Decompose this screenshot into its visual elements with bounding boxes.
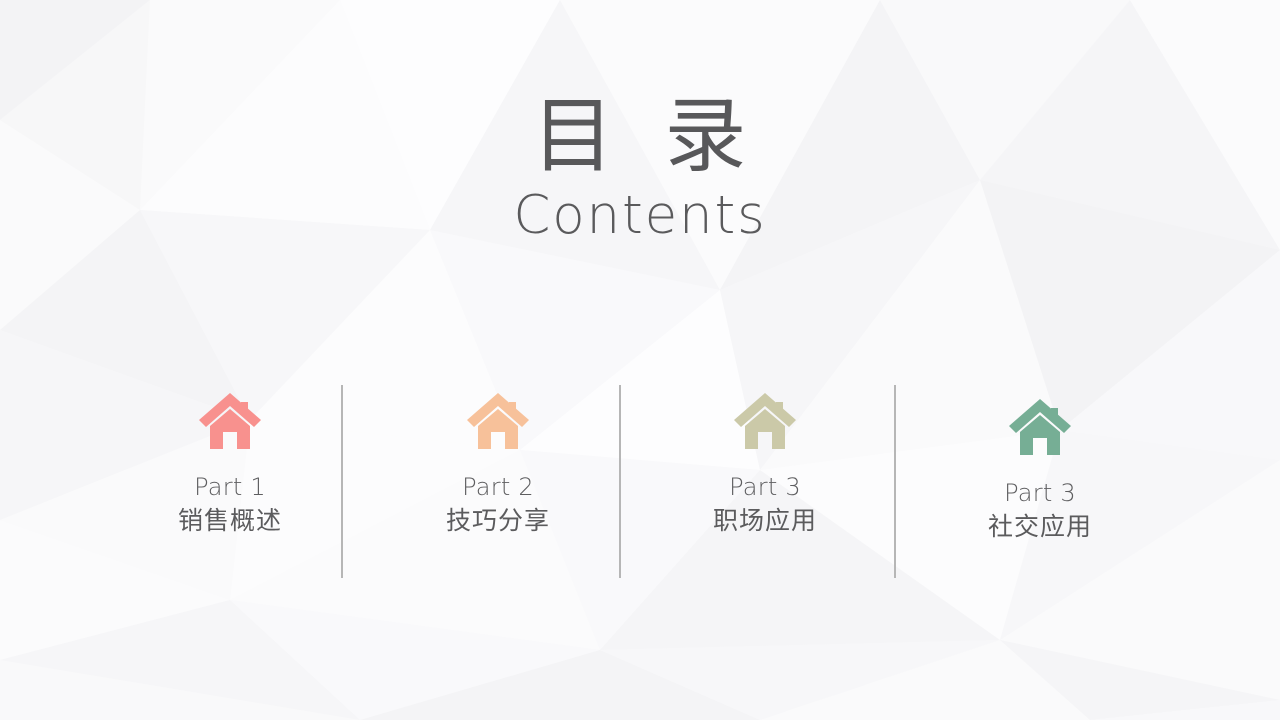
contents-item-label: Part 3 bbox=[645, 472, 885, 503]
house-icon-wrap bbox=[645, 380, 885, 452]
contents-item-part-1[interactable]: Part 1 销售概述 bbox=[110, 380, 350, 537]
contents-item-title: 职场应用 bbox=[645, 505, 885, 538]
contents-item-part-3[interactable]: Part 3 职场应用 bbox=[645, 380, 885, 537]
contents-item-label: Part 2 bbox=[378, 472, 618, 503]
house-icon bbox=[466, 390, 530, 452]
contents-item-title: 销售概述 bbox=[110, 505, 350, 538]
house-icon-wrap bbox=[378, 380, 618, 452]
contents-item-part-2[interactable]: Part 2 技巧分享 bbox=[378, 380, 618, 537]
contents-item-label: Part 1 bbox=[110, 472, 350, 503]
slide-title-block: 目 录 Contents bbox=[0, 96, 1280, 244]
house-icon-wrap bbox=[110, 380, 350, 452]
house-icon bbox=[198, 390, 262, 452]
contents-item-title: 社交应用 bbox=[920, 511, 1160, 544]
house-icon-wrap bbox=[920, 386, 1160, 458]
contents-item-label: Part 3 bbox=[920, 478, 1160, 509]
contents-item-title: 技巧分享 bbox=[378, 505, 618, 538]
house-icon bbox=[733, 390, 797, 452]
presentation-slide: 目 录 Contents Part 1 销售概述 bbox=[0, 0, 1280, 720]
page-subtitle: Contents bbox=[0, 188, 1280, 244]
page-title: 目 录 bbox=[0, 96, 1280, 178]
contents-item-part-4[interactable]: Part 3 社交应用 bbox=[920, 386, 1160, 543]
house-icon bbox=[1008, 396, 1072, 458]
contents-list: Part 1 销售概述 Part 2 技巧分享 bbox=[110, 380, 1170, 580]
